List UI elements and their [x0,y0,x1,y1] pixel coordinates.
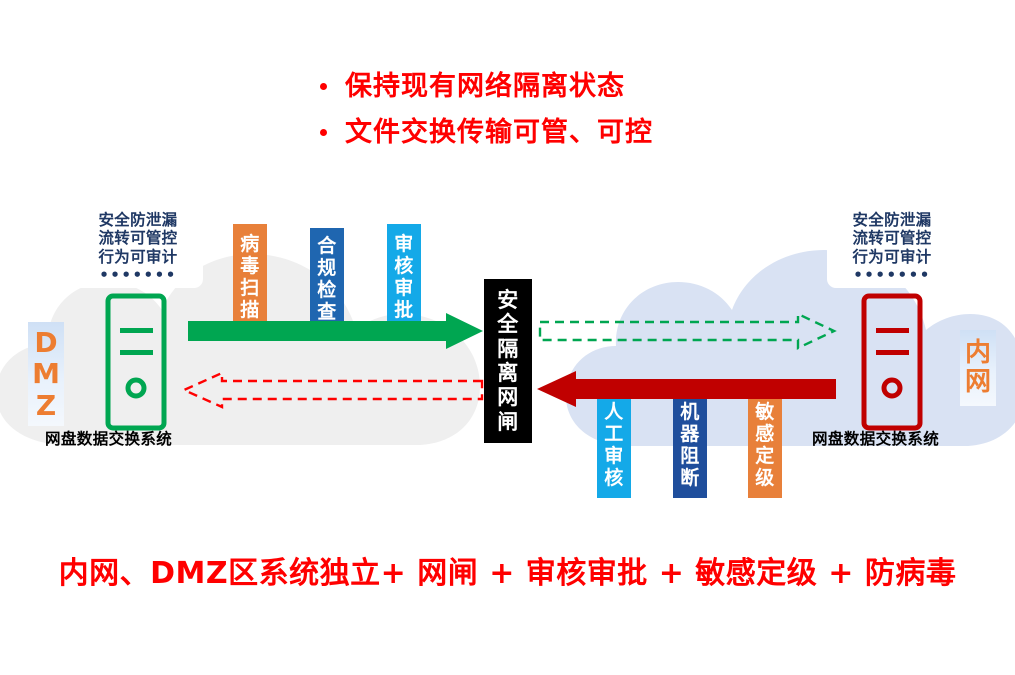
manual-review-char-4: 核 [604,467,624,489]
dmz-char-2: M [32,358,60,389]
left-server-icon [104,292,168,436]
right-bubble-line-1: 安全防泄漏 [836,211,948,229]
dmz-char-1: D [34,327,57,358]
intranet-char-1: 内 [965,339,991,368]
diagram-canvas: 保持现有网络隔离状态 文件交换传输可管、可控 安全防泄漏 流转可管控 行为可审计… [0,0,1015,675]
security-gateway-box: 安 全 隔 离 网 闸 [484,279,532,443]
control-label-sensitivity-grading: 敏 感 定 级 [748,392,782,498]
right-bubble-line-2: 流转可管控 [836,229,948,247]
left-server-caption: 网盘数据交换系统 [45,427,172,449]
intranet-zone-chip: 内 网 [960,330,996,406]
left-bubble-line-2: 流转可管控 [82,229,194,247]
sensitivity-char-3: 定 [755,445,775,467]
header-bullet-item: 文件交换传输可管、可控 [320,118,920,148]
virus-scan-char-3: 扫 [240,277,260,299]
header-bullet-text: 保持现有网络隔离状态 [345,72,625,102]
virus-scan-char-2: 毒 [240,255,260,277]
intranet-char-2: 网 [965,368,991,397]
outbound-return-dashed-arrow [182,372,482,408]
review-char-2: 核 [394,255,414,277]
dmz-zone-chip: D M Z [28,322,64,426]
right-server-caption: 网盘数据交换系统 [812,427,939,449]
control-label-manual-review: 人 工 审 核 [597,392,631,498]
machine-block-char-3: 阻 [680,445,700,467]
virus-scan-char-1: 病 [240,233,260,255]
right-bubble-line-3: 行为可审计 [836,248,948,266]
compliance-char-3: 检 [317,279,337,301]
control-label-machine-block: 机 器 阻 断 [673,392,707,498]
gateway-char-5: 网 [497,385,519,409]
machine-block-char-2: 器 [680,423,700,445]
inbound-request-dashed-arrow [540,313,836,349]
compliance-char-2: 规 [317,257,337,279]
manual-review-char-2: 工 [604,423,624,445]
manual-review-char-3: 审 [604,445,624,467]
right-bubble-ellipsis: ••••••• [836,268,948,283]
outbound-flow-arrow [188,313,483,349]
dmz-char-3: Z [36,390,56,421]
sensitivity-char-4: 级 [755,467,775,489]
header-bullet-list: 保持现有网络隔离状态 文件交换传输可管、可控 [320,72,920,163]
gateway-char-2: 全 [497,312,519,336]
bullet-dot-icon [320,129,327,136]
summary-footer-text: 内网、DMZ区系统独立+ 网闸 + 审核审批 + 敏感定级 + 防病毒 [0,548,1015,592]
review-char-3: 审 [394,277,414,299]
right-bubble: 安全防泄漏 流转可管控 行为可审计 ••••••• [827,204,957,288]
header-bullet-text: 文件交换传输可管、可控 [345,118,653,148]
left-bubble-ellipsis: ••••••• [82,268,194,283]
compliance-char-1: 合 [317,235,337,257]
bullet-dot-icon [320,83,327,90]
left-bubble-line-1: 安全防泄漏 [82,211,194,229]
gateway-char-4: 离 [497,361,519,385]
gateway-char-6: 闸 [497,410,519,434]
machine-block-char-4: 断 [680,467,700,489]
right-server-icon [860,292,924,436]
gateway-char-1: 安 [497,288,519,312]
inbound-flow-arrow [536,371,836,407]
left-bubble-line-3: 行为可审计 [82,248,194,266]
left-bubble: 安全防泄漏 流转可管控 行为可审计 ••••••• [73,204,203,288]
gateway-char-3: 隔 [497,337,519,361]
sensitivity-char-2: 感 [755,423,775,445]
header-bullet-item: 保持现有网络隔离状态 [320,72,920,102]
review-char-1: 审 [394,233,414,255]
